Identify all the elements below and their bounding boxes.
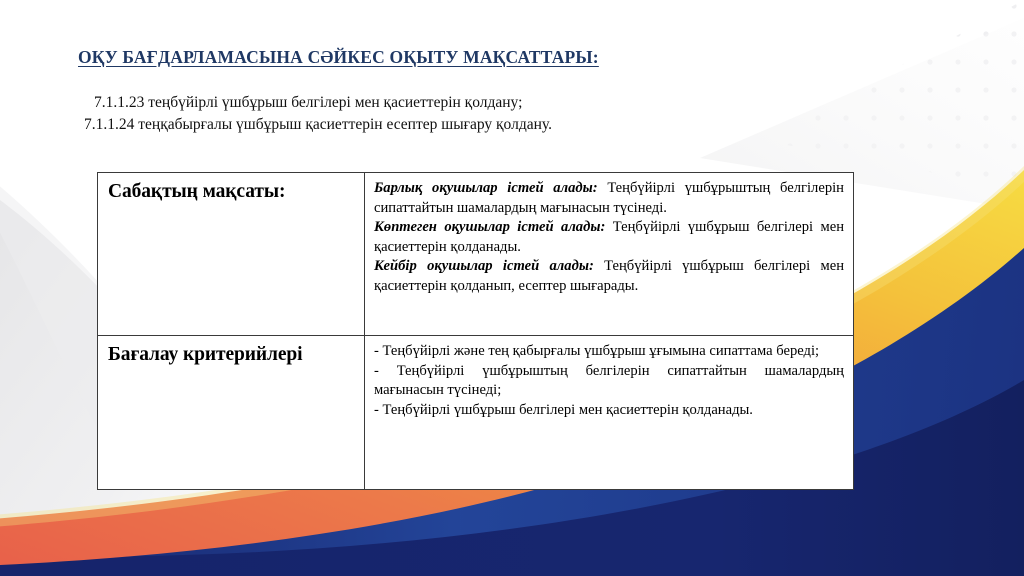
criteria-item: - Теңбүйірлі үшбұрыш белгілері мен қасие…	[374, 401, 844, 421]
objective-item: 7.1.1.24 теңқабырғалы үшбұрыш қасиеттері…	[84, 114, 784, 136]
aim-lead-in: Кейбір оқушылар істей алады:	[374, 258, 594, 274]
criteria-item: - Теңбүйірлі үшбұрыштың белгілерін сипат…	[374, 362, 844, 401]
objectives-list: 7.1.1.23 теңбүйірлі үшбұрыш белгілері ме…	[84, 92, 784, 136]
row-content-assessment-criteria: - Теңбүйірлі және тең қабырғалы үшбұрыш …	[365, 336, 854, 490]
aim-paragraph: Барлық оқушылар істей алады: Теңбүйірлі …	[374, 179, 844, 218]
row-content-lesson-aim: Барлық оқушылар істей алады: Теңбүйірлі …	[365, 173, 854, 336]
aim-lead-in: Көптеген оқушылар істей алады:	[374, 219, 605, 235]
table-row: Сабақтың мақсаты: Барлық оқушылар істей …	[98, 173, 854, 336]
table-row: Бағалау критерийлері - Теңбүйірлі және т…	[98, 336, 854, 490]
aim-paragraph: Көптеген оқушылар істей алады: Теңбүйірл…	[374, 218, 844, 257]
criteria-item: - Теңбүйірлі және тең қабырғалы үшбұрыш …	[374, 342, 844, 362]
page-title: ОҚУ БАҒДАРЛАМАСЫНА СӘЙКЕС ОҚЫТУ МАҚСАТТА…	[78, 47, 599, 68]
row-label-assessment-criteria: Бағалау критерийлері	[98, 336, 365, 490]
slide-content: ОҚУ БАҒДАРЛАМАСЫНА СӘЙКЕС ОҚЫТУ МАҚСАТТА…	[0, 0, 1024, 576]
objective-item: 7.1.1.23 теңбүйірлі үшбұрыш белгілері ме…	[84, 92, 784, 114]
aim-lead-in: Барлық оқушылар істей алады:	[374, 180, 598, 196]
row-label-lesson-aim: Сабақтың мақсаты:	[98, 173, 365, 336]
aim-paragraph: Кейбір оқушылар істей алады: Теңбүйірлі …	[374, 257, 844, 296]
slide-canvas: ОҚУ БАҒДАРЛАМАСЫНА СӘЙКЕС ОҚЫТУ МАҚСАТТА…	[0, 0, 1024, 576]
lesson-plan-table: Сабақтың мақсаты: Барлық оқушылар істей …	[97, 172, 854, 490]
